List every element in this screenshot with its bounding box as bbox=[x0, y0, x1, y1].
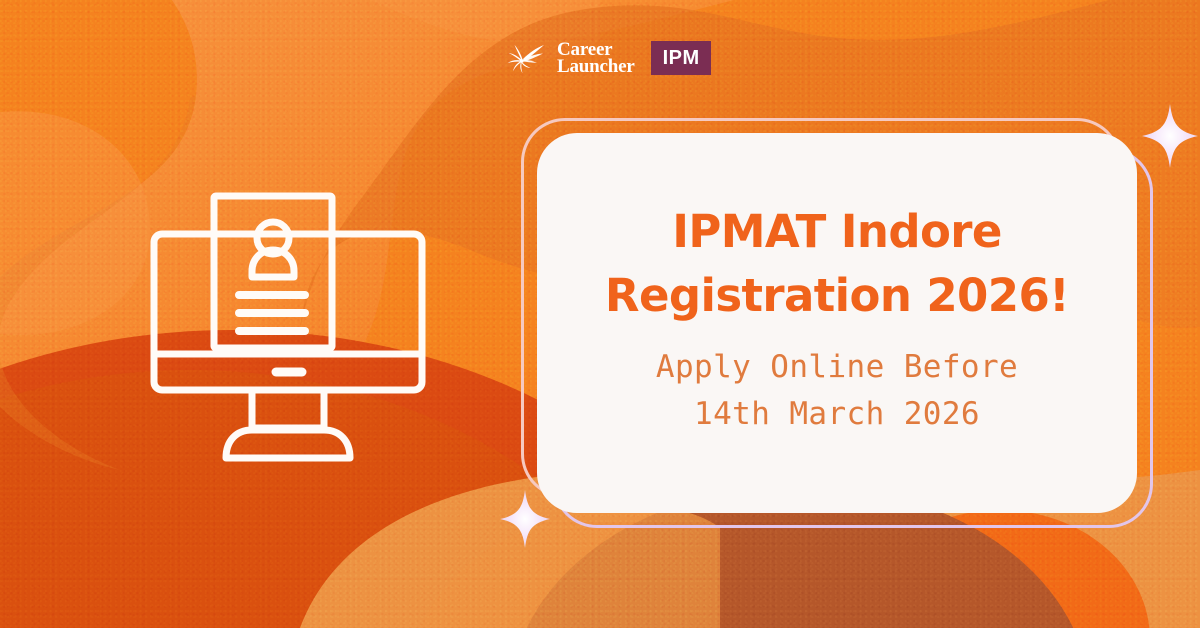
career-launcher-wordmark: Career Launcher bbox=[557, 41, 635, 75]
sparkle-star-icon-top-right bbox=[1142, 104, 1198, 168]
career-launcher-logo[interactable]: Career Launcher IPM bbox=[505, 40, 711, 76]
card-heading-line-2: Registration 2026! bbox=[605, 264, 1069, 328]
card-subtitle-line-2: 14th March 2026 bbox=[656, 391, 1018, 438]
sparkle-star-icon-bottom-left bbox=[500, 490, 550, 548]
announcement-card: IPMAT Indore Registration 2026! Apply On… bbox=[537, 133, 1137, 513]
card-heading-line-1: IPMAT Indore bbox=[605, 200, 1069, 264]
career-launcher-swirl-icon bbox=[505, 40, 545, 76]
ipm-badge: IPM bbox=[651, 41, 711, 75]
card-subtitle: Apply Online Before 14th March 2026 bbox=[656, 344, 1018, 438]
promo-banner: Career Launcher IPM bbox=[0, 0, 1200, 628]
card-subtitle-line-1: Apply Online Before bbox=[656, 344, 1018, 391]
announcement-card-group: IPMAT Indore Registration 2026! Apply On… bbox=[0, 0, 1200, 628]
card-heading: IPMAT Indore Registration 2026! bbox=[605, 200, 1069, 328]
